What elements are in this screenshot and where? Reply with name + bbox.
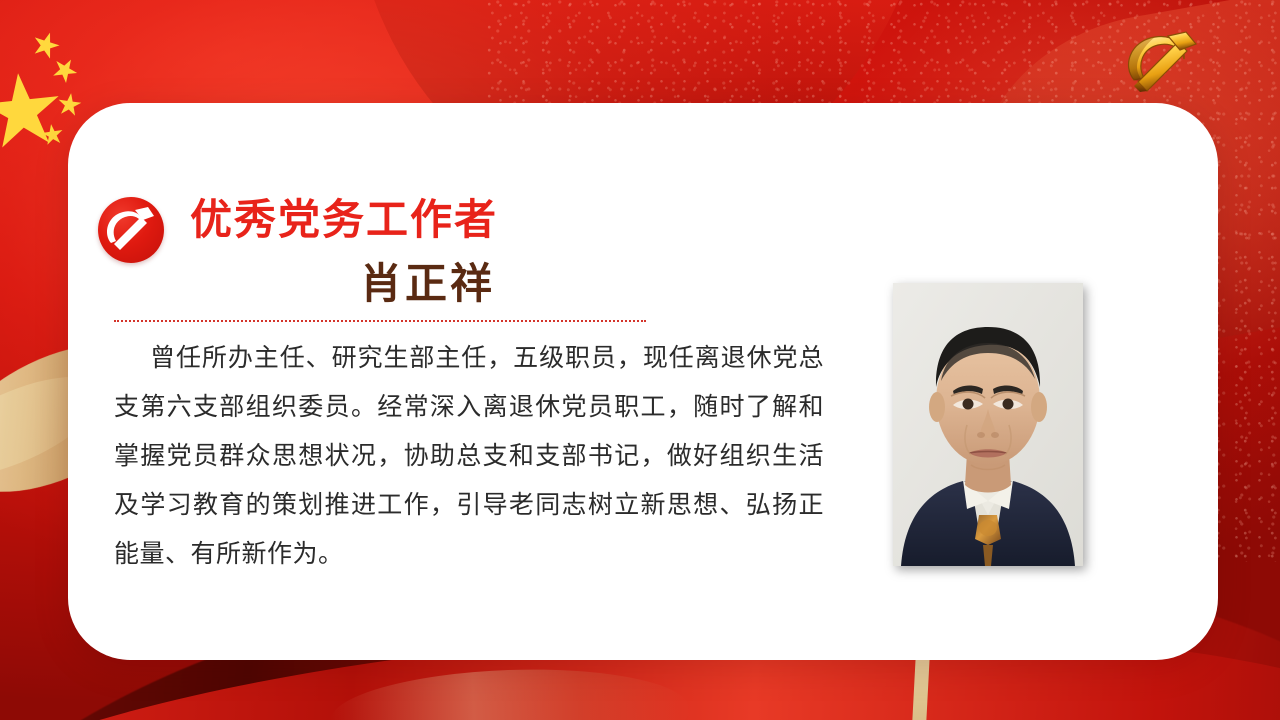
- page-title: 优秀党务工作者: [190, 199, 498, 241]
- party-emblem-gold-icon: [1116, 26, 1208, 98]
- biography-paragraph: 曾任所办主任、研究生部主任，五级职员，现任离退休党总支第六支部组织委员。经常深入…: [114, 333, 824, 578]
- person-name: 肖正祥: [360, 263, 495, 305]
- portrait-photo: [893, 283, 1083, 566]
- dotted-divider: [114, 320, 646, 322]
- party-emblem-badge-icon: [98, 197, 164, 263]
- slide-root: 优秀党务工作者 肖正祥 曾任所办主任、研究生部主任，五级职员，现任离退休党总支第…: [0, 0, 1280, 720]
